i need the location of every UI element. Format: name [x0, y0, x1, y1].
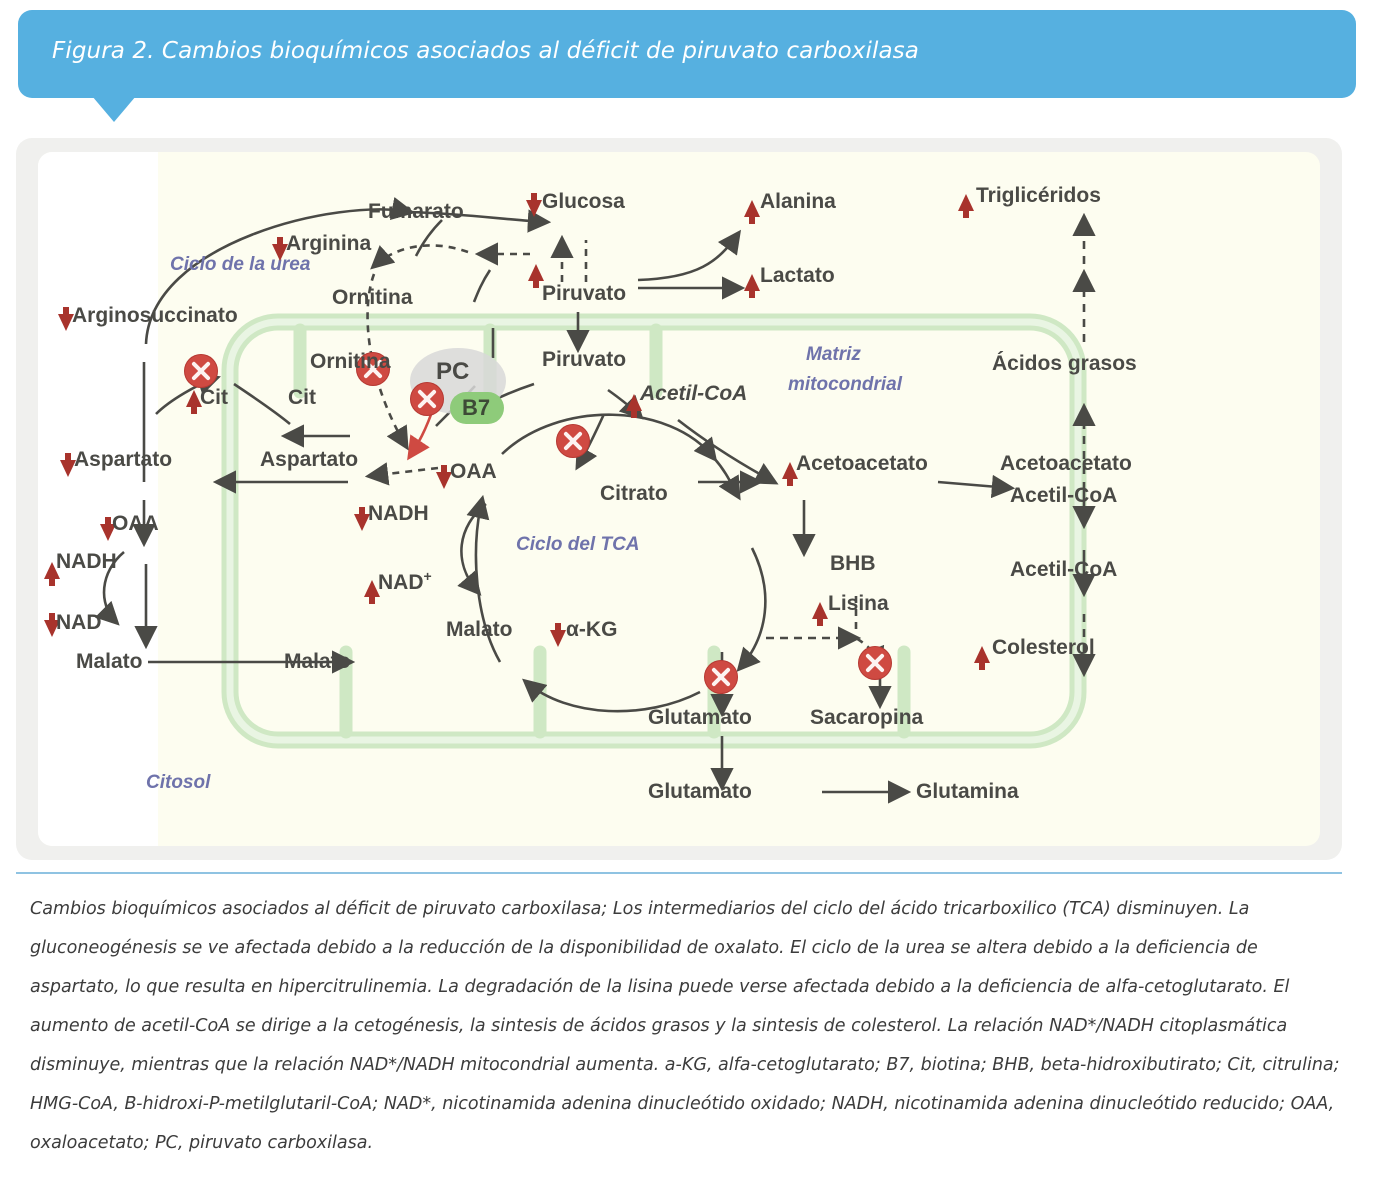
- metabolite-oaa-cyt: OAA: [112, 512, 159, 536]
- metabolite-lactato: Lactato: [760, 264, 835, 288]
- change-up-lactato-icon: [744, 274, 760, 291]
- metabolite-akg: α-KG: [566, 618, 617, 642]
- nad-cyt-text: NAD: [56, 611, 102, 634]
- block-marker-arginosuccinate: [184, 354, 218, 388]
- metabolite-cit-left: Cit: [200, 386, 228, 410]
- metabolite-aspartato-cyt: Aspartato: [74, 448, 172, 472]
- pc-enzyme-label: PC: [436, 358, 469, 386]
- metabolite-acetoacetato-r: Acetoacetato: [1000, 452, 1132, 476]
- metabolite-acetilcoa-mit: Acetil-CoA: [640, 382, 747, 406]
- banner-pointer-icon: [92, 96, 136, 122]
- nad-cyt-plus: +: [102, 608, 110, 624]
- metabolite-colesterol: Colesterol: [992, 636, 1095, 660]
- caption-divider: [16, 872, 1342, 874]
- metabolite-piruvato-mit: Piruvato: [542, 348, 626, 372]
- metabolite-nadh-mit: NADH: [368, 502, 429, 526]
- figure-title-banner: Figura 2. Cambios bioquímicos asociados …: [18, 10, 1356, 98]
- metabolite-nad-cyt: NAD+: [56, 608, 110, 635]
- metabolite-cit-right: Cit: [288, 386, 316, 410]
- label-ciclo-urea: Ciclo de la urea: [170, 254, 310, 276]
- label-ciclo-tca: Ciclo del TCA: [516, 534, 640, 556]
- metabolite-acetilcoa-r1: Acetil-CoA: [1010, 484, 1117, 508]
- label-matriz-l1: Matriz: [806, 344, 861, 366]
- metabolite-oaa-mit: OAA: [450, 460, 497, 484]
- metabolite-arginosuccinato: Arginosuccinato: [72, 304, 238, 328]
- metabolite-glutamato-cyt: Glutamato: [648, 780, 752, 804]
- metabolite-nad-mit: NAD+: [378, 568, 432, 595]
- metabolite-aspartato-mit: Aspartato: [260, 448, 358, 472]
- figure-panel: PC B7 Ciclo de la urea Ciclo del TCA Mat…: [16, 138, 1342, 860]
- metabolite-malato-mid: Malato: [284, 650, 351, 674]
- metabolite-malato-cyt: Malato: [76, 650, 143, 674]
- change-down-glucosa-icon: [526, 200, 542, 217]
- change-up-colesterol-icon: [974, 646, 990, 663]
- metabolite-malato-mit: Malato: [446, 618, 513, 642]
- change-up-trigliceridos-icon: [958, 194, 974, 211]
- metabolite-acetilcoa-r2: Acetil-CoA: [1010, 558, 1117, 582]
- nad-mit-plus: +: [424, 568, 432, 584]
- metabolite-acetoacetato-mit: Acetoacetato: [796, 452, 928, 476]
- metabolite-trigliceridos: Triglicéridos: [976, 184, 1101, 208]
- pathway-diagram: PC B7 Ciclo de la urea Ciclo del TCA Mat…: [38, 152, 1320, 846]
- metabolite-nadh-cyt: NADH: [56, 550, 117, 574]
- metabolite-sacaropina: Sacaropina: [810, 706, 923, 730]
- figure-title: Figura 2. Cambios bioquímicos asociados …: [52, 38, 919, 64]
- diagram-inner-panel: PC B7 Ciclo de la urea Ciclo del TCA Mat…: [38, 152, 1320, 846]
- change-up-alanina-icon: [744, 200, 760, 217]
- label-citosol: Citosol: [146, 772, 210, 794]
- metabolite-piruvato-cyt: Piruvato: [542, 282, 626, 306]
- metabolite-acidos-grasos: Ácidos grasos: [992, 352, 1137, 376]
- metabolite-alanina: Alanina: [760, 190, 836, 214]
- metabolite-glutamina: Glutamina: [916, 780, 1019, 804]
- nad-mit-text: NAD: [378, 571, 424, 594]
- block-marker-citrate-synthase: [556, 424, 590, 458]
- metabolite-arginina: Arginina: [286, 232, 371, 256]
- metabolite-fumarato: Fumarato: [368, 200, 464, 224]
- metabolite-glutamato-mit: Glutamato: [648, 706, 752, 730]
- metabolite-glucosa: Glucosa: [542, 190, 625, 214]
- change-down-akg-icon: [550, 630, 566, 647]
- metabolite-ornitina-out: Ornitina: [332, 286, 413, 310]
- figure-caption: Cambios bioquímicos asociados al déficit…: [30, 890, 1344, 1163]
- metabolite-citrato: Citrato: [600, 482, 668, 506]
- change-up-piruvato-cyt-icon: [528, 264, 544, 281]
- block-marker-saccharopine: [858, 646, 892, 680]
- metabolite-lisina: Lisina: [828, 592, 889, 616]
- metabolite-ornitina-in: Ornitina: [310, 350, 391, 374]
- metabolite-bhb: BHB: [830, 552, 876, 576]
- label-matriz-l2: mitocondrial: [788, 374, 902, 396]
- block-marker-pc-reaction: [410, 382, 444, 416]
- b7-cofactor-label: B7: [462, 395, 490, 421]
- change-up-lisina-icon: [812, 602, 828, 619]
- block-marker-akg-glutamate: [704, 660, 738, 694]
- figure-page: Figura 2. Cambios bioquímicos asociados …: [0, 0, 1374, 1184]
